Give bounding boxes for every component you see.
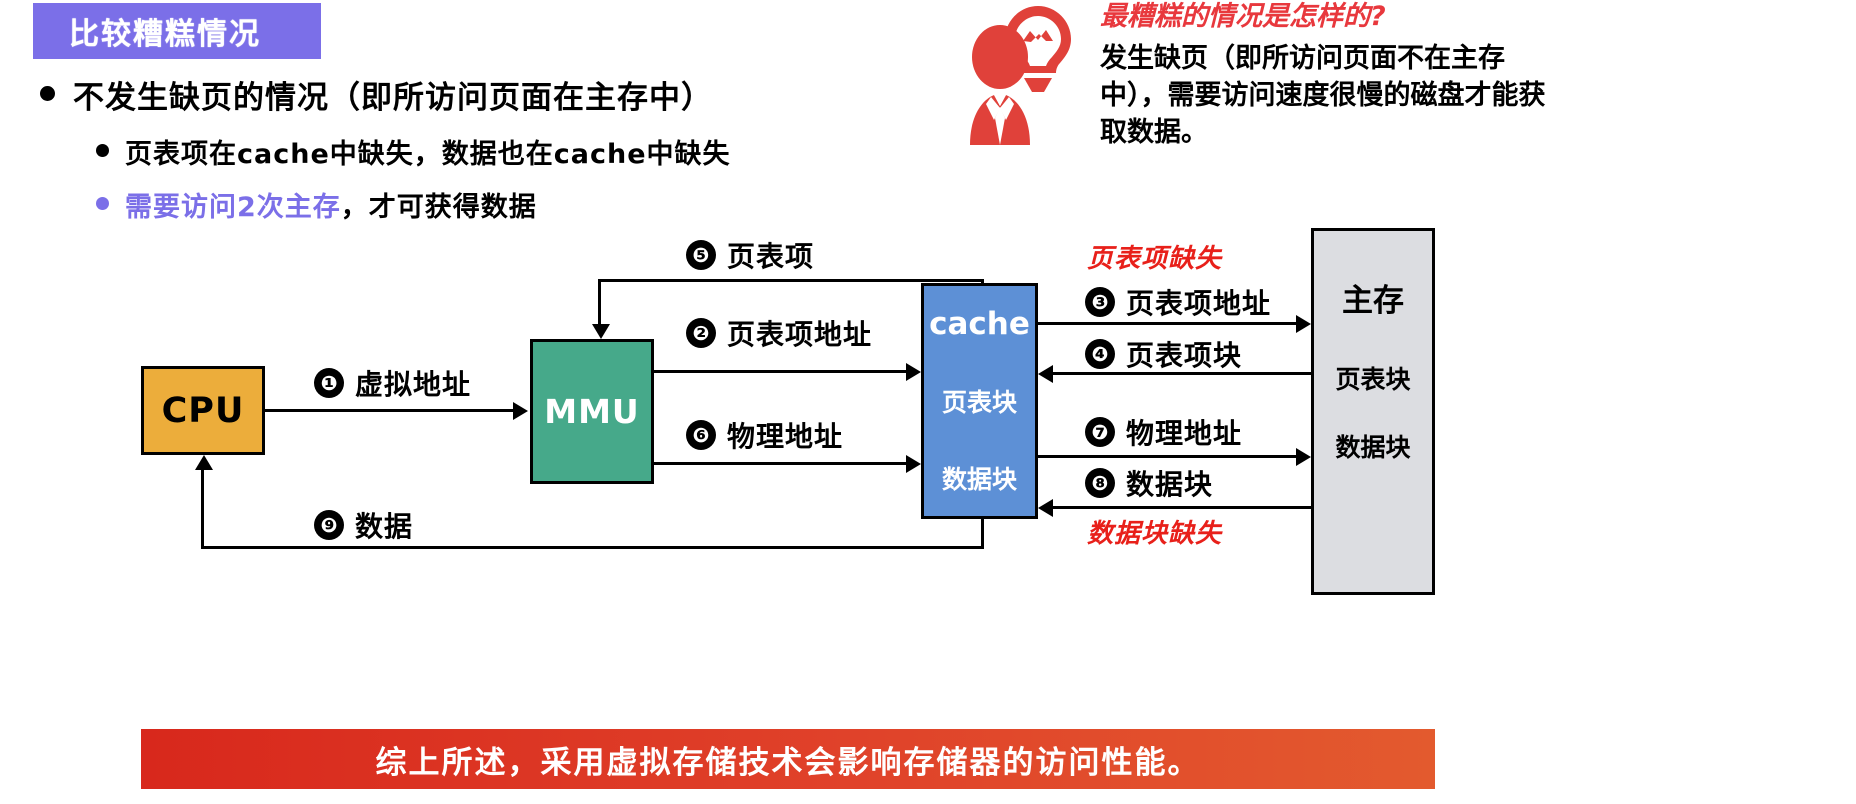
arrow-pte-return-head (592, 324, 610, 339)
arrow-data-return-down (981, 519, 984, 549)
arrow-cache-to-mem-pa-line (1038, 455, 1296, 458)
bullet-level1: 不发生缺页的情况（即所访问页面在主存中） (40, 72, 713, 117)
bullet-dot-icon (96, 197, 109, 210)
cache-sublabel-data-block: 数据块 (942, 460, 1017, 496)
arrow-mem-to-cache-ptb-head (1038, 365, 1053, 383)
step-number-5: ❺ (686, 240, 716, 270)
step-number-2: ❷ (686, 318, 716, 348)
step-caption-2: 页表项地址 (727, 313, 872, 353)
memory-label: 主存 (1342, 275, 1404, 320)
step-number-7: ❼ (1085, 417, 1115, 447)
step-number-6: ❻ (686, 420, 716, 450)
arrow-data-return-up (201, 470, 204, 546)
step-label-5: ❺ 页表项 (686, 235, 814, 275)
bullet-level1-text: 不发生缺页的情况（即所访问页面在主存中） (73, 72, 713, 117)
memory-sublabel-data-block: 数据块 (1335, 428, 1410, 464)
bullet-level2-b-text: 需要访问2次主存，才可获得数据 (125, 185, 537, 224)
arrow-mmu-to-cache-pa-head (906, 455, 921, 473)
arrow-mem-to-cache-data-line (1053, 506, 1311, 509)
step-number-3: ❸ (1085, 287, 1115, 317)
bullet-rest-text: ，才可获得数据 (341, 192, 537, 223)
step-number-9: ❾ (314, 510, 344, 540)
step-caption-5: 页表项 (727, 235, 814, 275)
step-label-8: ❽ 数据块 (1085, 463, 1213, 503)
step-number-4: ❹ (1085, 339, 1115, 369)
step-label-9: ❾ 数据 (314, 505, 413, 545)
cache-label: cache (929, 306, 1030, 342)
arrow-mem-to-cache-data-head (1038, 499, 1053, 517)
bullet-level2-a-text: 页表项在cache中缺失，数据也在cache中缺失 (125, 132, 731, 171)
arrow-cpu-to-mmu-line (265, 409, 513, 412)
cpu-label: CPU (162, 391, 245, 431)
step-label-4: ❹ 页表项块 (1085, 334, 1242, 374)
arrow-cache-to-mem-pte-line (1038, 322, 1296, 325)
conclusion-banner-text: 综上所述，采用虚拟存储技术会影响存储器的访问性能。 (376, 737, 1201, 782)
arrow-data-return-head (195, 455, 213, 470)
step-label-1: ❶ 虚拟地址 (314, 363, 471, 403)
step-caption-9: 数据 (355, 505, 413, 545)
step-caption-3: 页表项地址 (1126, 282, 1271, 322)
step-label-6: ❻ 物理地址 (686, 415, 843, 455)
arrow-data-return-bottom (201, 546, 984, 549)
step-label-3: ❸ 页表项地址 (1085, 282, 1271, 322)
step-number-8: ❽ (1085, 468, 1115, 498)
step-caption-6: 物理地址 (727, 415, 843, 455)
step-caption-4: 页表项块 (1126, 334, 1242, 374)
callout-body: 发生缺页（即所访问页面不在主存中），需要访问速度很慢的磁盘才能获取数据。 (1100, 40, 1550, 151)
arrow-cache-to-mem-pte-head (1296, 315, 1311, 333)
arrow-mmu-to-cache-pte-head (906, 363, 921, 381)
step-caption-1: 虚拟地址 (355, 363, 471, 403)
cache-sublabel-page-table-block: 页表块 (942, 383, 1017, 419)
diagram-box-main-memory[interactable]: 主存 页表块 数据块 (1311, 228, 1435, 595)
slide-title-badge: 比较糟糕情况 (33, 3, 321, 59)
miss-label-page-table-entry: 页表项缺失 (1087, 238, 1222, 275)
arrow-pte-return-down (598, 279, 601, 324)
person-lightbulb-icon (960, 0, 1090, 145)
diagram-box-cache[interactable]: cache 页表块 数据块 (921, 283, 1038, 519)
conclusion-banner: 综上所述，采用虚拟存储技术会影响存储器的访问性能。 (141, 729, 1435, 789)
memory-sublabel-page-table-block: 页表块 (1335, 360, 1410, 396)
step-caption-7: 物理地址 (1126, 412, 1242, 452)
step-caption-8: 数据块 (1126, 463, 1213, 503)
arrow-mmu-to-cache-pa-line (654, 462, 906, 465)
callout-text-block: 最糟糕的情况是怎样的? 发生缺页（即所访问页面不在主存中），需要访问速度很慢的磁… (1100, 0, 1560, 151)
bullet-dot-icon (96, 144, 109, 157)
bullet-level2-b: 需要访问2次主存，才可获得数据 (96, 185, 537, 224)
step-label-7: ❼ 物理地址 (1085, 412, 1242, 452)
step-number-1: ❶ (314, 368, 344, 398)
arrow-mmu-to-cache-pte-line (654, 370, 906, 373)
callout-title: 最糟糕的情况是怎样的? (1100, 0, 1560, 34)
step-label-2: ❷ 页表项地址 (686, 313, 872, 353)
bullet-dot-icon (40, 86, 55, 101)
bullet-highlight-text: 需要访问2次主存 (125, 192, 341, 223)
mmu-label: MMU (544, 392, 639, 431)
arrow-pte-return-top (598, 279, 984, 282)
arrow-cpu-to-mmu-head (513, 402, 528, 420)
miss-label-data-block: 数据块缺失 (1087, 513, 1222, 550)
arrow-cache-to-mem-pa-head (1296, 448, 1311, 466)
bullet-level2-a: 页表项在cache中缺失，数据也在cache中缺失 (96, 132, 731, 171)
slide-title-text: 比较糟糕情况 (33, 9, 261, 53)
diagram-box-mmu[interactable]: MMU (530, 339, 654, 484)
diagram-box-cpu[interactable]: CPU (141, 366, 265, 455)
